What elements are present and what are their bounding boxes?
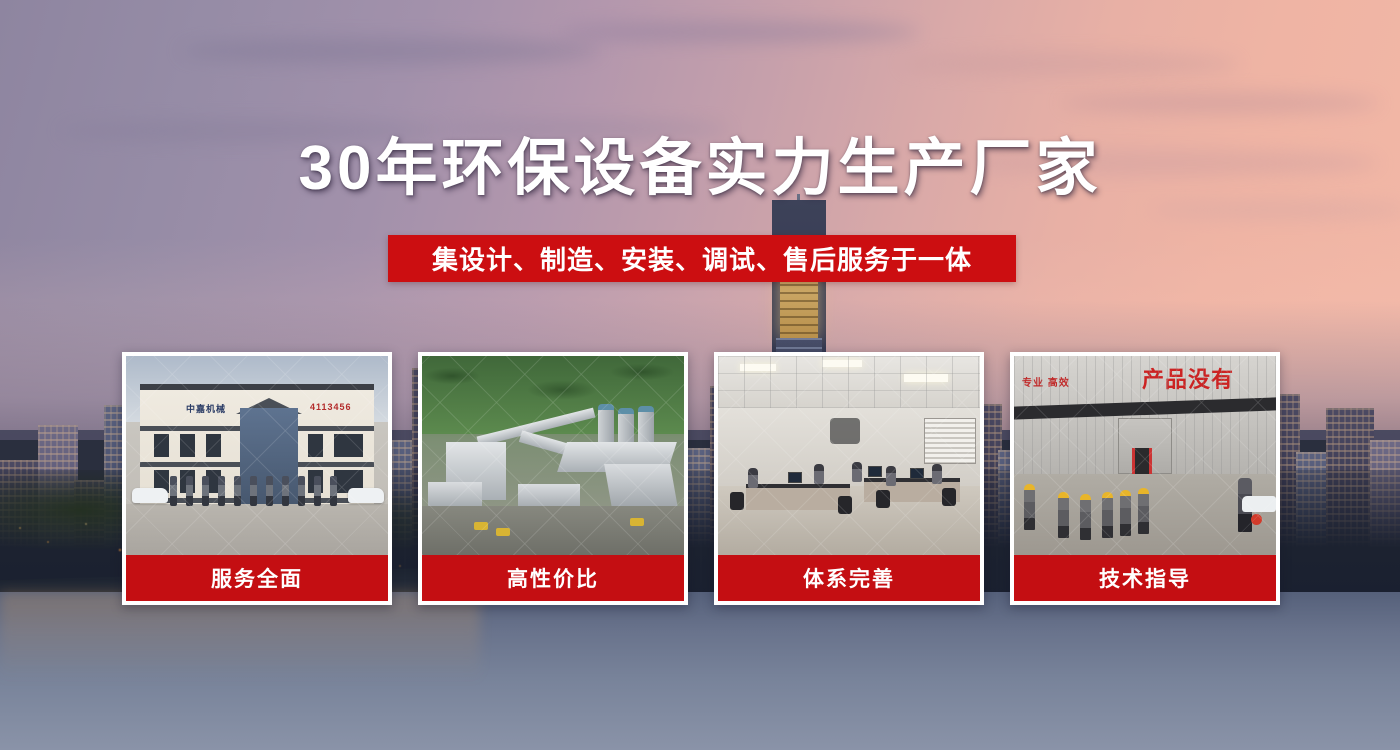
building-phone-text: 4113456 <box>310 402 352 412</box>
card-photo-office-building: 中嘉机械 4113456 <box>126 356 388 555</box>
card-caption-text: 服务全面 <box>211 563 303 593</box>
card-caption-text: 技术指导 <box>1099 563 1191 593</box>
page-title: 30年环保设备实力生产厂家 <box>0 134 1400 204</box>
card-caption-text: 高性价比 <box>507 563 599 593</box>
subtitle-banner: 集设计、制造、安装、调试、售后服务于一体 <box>388 235 1016 282</box>
feature-card[interactable]: 产品没有 专业 高效 <box>1010 352 1280 605</box>
building-sign-text: 中嘉机械 <box>186 402 226 415</box>
card-photo-workers: 产品没有 专业 高效 <box>1014 356 1276 555</box>
feature-card[interactable]: 中嘉机械 4113456 <box>122 352 392 605</box>
card-caption: 技术指导 <box>1014 555 1276 601</box>
card-photo-plant-aerial <box>422 356 684 555</box>
card-caption: 服务全面 <box>126 555 388 601</box>
window-blinds <box>924 418 976 464</box>
card-photo-office-interior <box>718 356 980 555</box>
feature-card[interactable]: 体系完善 <box>714 352 984 605</box>
workshop-slogan-small: 专业 高效 <box>1022 374 1070 389</box>
subtitle-text: 集设计、制造、安装、调试、售后服务于一体 <box>432 240 972 277</box>
card-caption: 体系完善 <box>718 555 980 601</box>
workshop-slogan: 产品没有 <box>1142 362 1234 394</box>
wall-logo <box>830 418 860 444</box>
card-caption-text: 体系完善 <box>803 563 895 593</box>
feature-card-list: 中嘉机械 4113456 <box>122 352 1280 605</box>
feature-card[interactable]: 高性价比 <box>418 352 688 605</box>
banner-content: 30年环保设备实力生产厂家 集设计、制造、安装、调试、售后服务于一体 中嘉机械 … <box>0 0 1400 750</box>
card-caption: 高性价比 <box>422 555 684 601</box>
